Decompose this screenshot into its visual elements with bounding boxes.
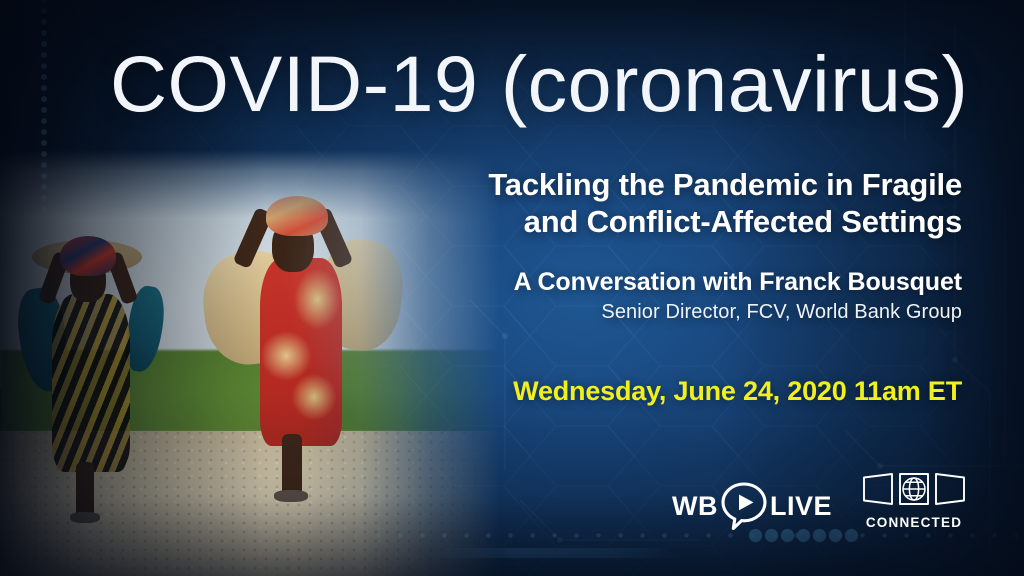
event-details: Tackling the Pandemic in Fragile and Con… [402,166,962,407]
wb-live-logo[interactable]: WB LIVE [672,482,832,530]
speaker-role: Senior Director, FCV, World Bank Group [402,301,962,324]
three-screens-icon [862,472,966,511]
wb-live-live-text: LIVE [770,493,832,520]
logo-group: WB LIVE [672,472,966,530]
connected-label: CONNECTED [866,515,962,530]
wb-live-wb-text: WB [672,493,718,520]
speaker-headline: A Conversation with Franck Bousquet [402,268,962,297]
event-subtitle-line-1: Tackling the Pandemic in Fragile [402,166,962,203]
banner-canvas: COVID-19 (coronavirus) Tackling the Pand… [0,0,1024,576]
event-subtitle-line-2: and Conflict-Affected Settings [402,203,962,240]
connected-logo[interactable]: CONNECTED [862,472,966,530]
speech-bubble-icon [719,481,769,531]
event-datetime: Wednesday, June 24, 2020 11am ET [402,376,962,407]
page-title: COVID-19 (coronavirus) [110,44,940,123]
event-subtitle: Tackling the Pandemic in Fragile and Con… [402,166,962,240]
